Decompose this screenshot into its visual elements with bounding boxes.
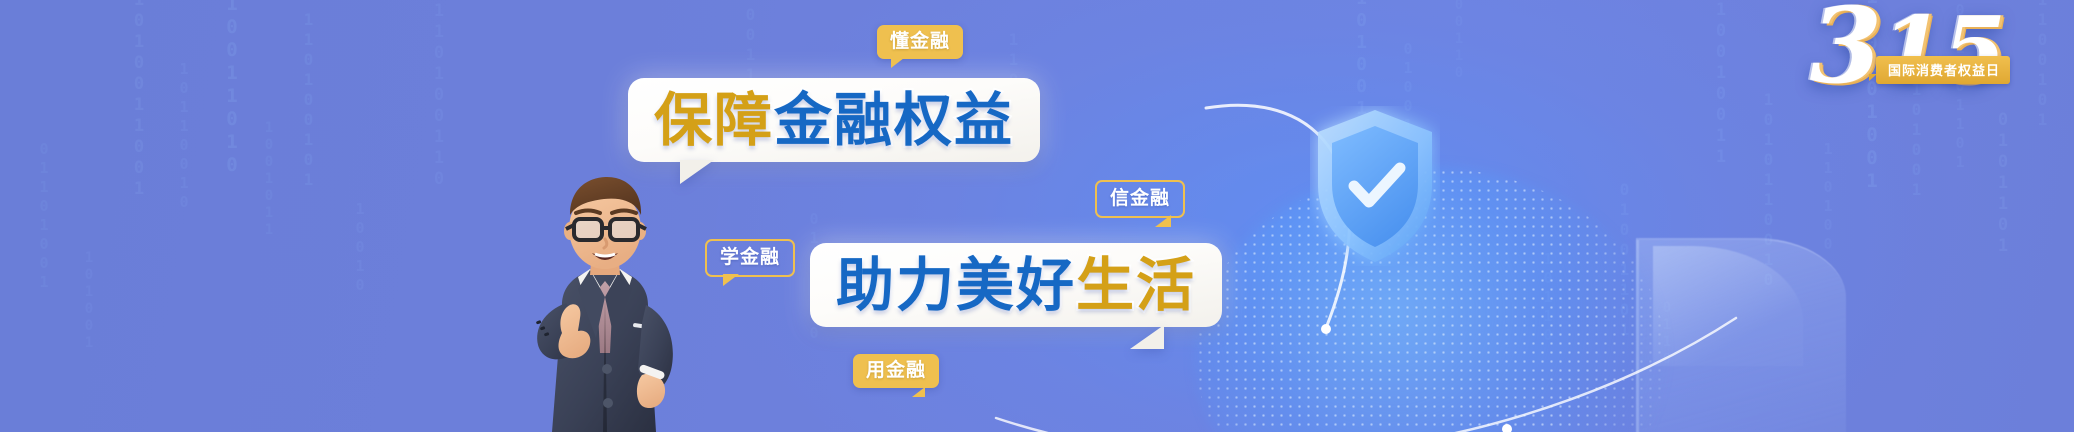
logo-315: 315 国际消费者权益日 xyxy=(1780,2,2010,102)
binary-column: 010011010 xyxy=(222,0,241,177)
tag-xue-jinrong: 学金融 xyxy=(705,239,795,277)
glass-tower-icon xyxy=(1636,238,1846,432)
security-shield-icon xyxy=(1310,106,1440,266)
headline-secondary-gold: 生活 xyxy=(1076,251,1196,319)
headline-secondary-blue: 助力美好 xyxy=(836,251,1076,319)
binary-column: 100110 xyxy=(1452,0,1466,82)
logo-digit-3: 3 xyxy=(1810,0,1880,107)
binary-column: 10010011 xyxy=(1712,0,1729,168)
promo-banner: 1010011001101100100100110101001011110100… xyxy=(0,0,2074,432)
tag-tail-dong xyxy=(891,58,904,68)
binary-column: 1001011 xyxy=(262,120,276,239)
headline-secondary: 助力美好生活 xyxy=(836,256,1196,314)
bubble-tail-secondary xyxy=(1130,325,1164,349)
headline-bubble-secondary: 助力美好生活 xyxy=(810,243,1222,327)
tag-dong-jinrong: 懂金融 xyxy=(877,25,963,59)
tag-xue-jinrong-label: 学金融 xyxy=(720,246,780,268)
headline-primary-gold: 保障 xyxy=(654,86,774,154)
tag-dong-jinrong-label: 懂金融 xyxy=(890,30,950,52)
headline-bubble-primary: 保障金融权益 xyxy=(628,78,1040,162)
binary-column: 110100 xyxy=(1820,140,1835,254)
tag-tail-yong xyxy=(912,387,925,397)
binary-column: 0101101 xyxy=(1994,110,2011,257)
tag-tail-xin xyxy=(1155,215,1171,227)
headline-primary: 保障金融权益 xyxy=(654,91,1014,149)
binary-column: 1100101 xyxy=(2034,0,2050,130)
binary-column: 01101001 xyxy=(36,140,51,292)
tag-xin-jinrong-label: 信金融 xyxy=(1110,187,1170,209)
binary-column: 10110010 xyxy=(176,60,191,212)
logo-ribbon-label: 国际消费者权益日 xyxy=(1876,56,2010,84)
tag-yong-jinrong: 用金融 xyxy=(853,354,939,388)
binary-column: 10010 xyxy=(352,200,367,295)
bubble-tail-primary xyxy=(680,160,714,184)
tag-tail-xue xyxy=(723,274,739,286)
binary-column: 0110100110 xyxy=(430,0,447,190)
binary-column: 01001101 xyxy=(1616,180,1632,340)
binary-column: 101001 xyxy=(82,250,96,352)
binary-column: 1010011001 xyxy=(130,0,147,200)
headline-primary-blue: 金融权益 xyxy=(774,86,1014,154)
logo-digit-15: 15 xyxy=(1880,0,2004,104)
tag-yong-jinrong-label: 用金融 xyxy=(866,359,926,381)
binary-column: 10110 xyxy=(1540,250,1555,345)
businessman-mascot xyxy=(500,163,710,432)
tag-xin-jinrong: 信金融 xyxy=(1095,180,1185,218)
binary-column: 110100101 xyxy=(300,10,316,190)
